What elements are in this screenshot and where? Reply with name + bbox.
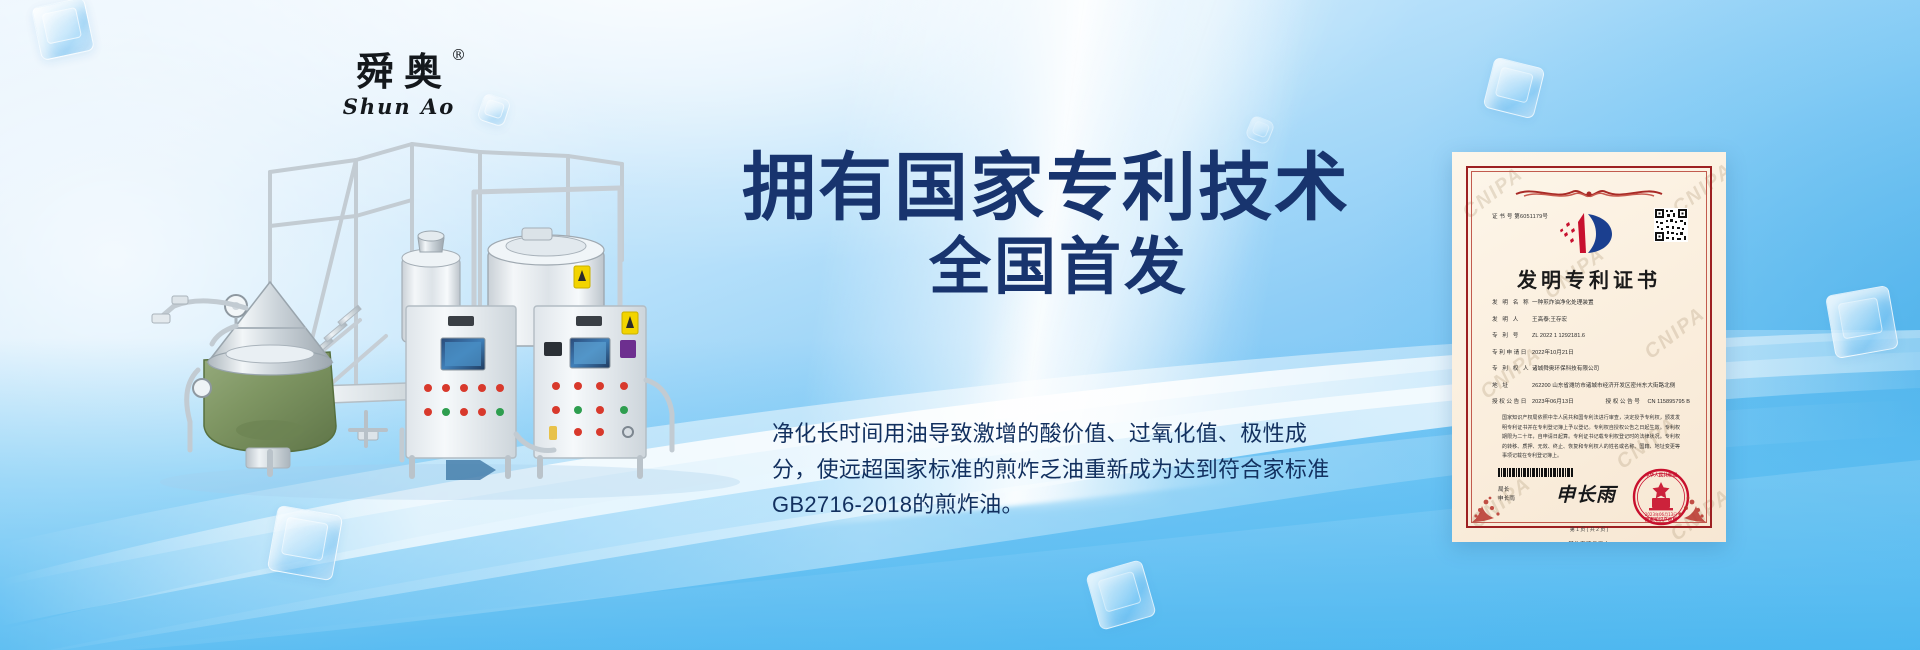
field-value: 2022年10月21日	[1532, 350, 1690, 358]
certificate-barcode	[1498, 468, 1573, 477]
certificate-number-value: 第6051179号	[1514, 214, 1548, 220]
cnipa-logo-icon	[1558, 210, 1620, 256]
ice-cube-decoration	[1825, 285, 1899, 359]
brand-logo-chinese: 舜奥 ®	[346, 52, 452, 92]
certificate-field-row: 专利申请日 2022年10月21日	[1492, 350, 1690, 358]
certificate-field-row: 发 明 人 王高泰;王存宏	[1492, 317, 1690, 325]
headline-block: 拥有国家专利技术 全国首发	[742, 150, 1402, 302]
certificate-fields: 发 明 名 称 一种煎炸油净化处理装置 发 明 人 王高泰;王存宏 专 利 号 …	[1492, 300, 1690, 416]
promo-banner: 舜奥 ® Shun Ao	[0, 0, 1920, 650]
field-label: 授权公告日	[1492, 399, 1532, 407]
field-value: 2023年06月13日	[1532, 399, 1592, 407]
field-value: 诸城舜奥环保科技有限公司	[1532, 366, 1690, 374]
field-value: CN 115895795 B	[1647, 399, 1690, 407]
certificate-signature: 申长雨	[1556, 480, 1616, 507]
field-label: 授权公告号	[1606, 399, 1642, 407]
certificate-field-row: 专 利 号 ZL 2022 1 1292181.6	[1492, 333, 1690, 341]
field-label: 地 址	[1492, 383, 1532, 391]
description-paragraph: 净化长时间用油导致激增的酸价值、过氧化值、极性成分，使远超国家标准的煎炸乏油重新…	[772, 416, 1332, 523]
brand-logo-pinyin: Shun Ao	[334, 94, 464, 119]
certificate-field-row: 授权公告日 2023年06月13日 授权公告号 CN 115895795 B	[1492, 399, 1690, 407]
field-label: 专利申请日	[1492, 350, 1532, 358]
brand-logo: 舜奥 ® Shun Ao	[334, 52, 464, 119]
certificate-qr-code	[1654, 208, 1688, 242]
registered-trademark-icon: ®	[441, 48, 466, 64]
certificate-footer-note: 其他事项见正文	[1468, 540, 1710, 542]
certificate-border: 证 书 号 第6051179号	[1466, 166, 1712, 528]
ice-cube-decoration	[31, 0, 95, 61]
certificate-corner-ornament-icon	[1470, 484, 1514, 524]
certificate-corner-ornament-icon	[1664, 484, 1708, 524]
certificate-number-label: 证 书 号	[1492, 214, 1513, 220]
field-value: 262200 山东省潍坊市诸城市经济开发区密州东大街路北侧	[1532, 383, 1690, 391]
field-label: 专 利 权 人	[1492, 366, 1532, 374]
certificate-number: 证 书 号 第6051179号	[1492, 212, 1548, 220]
certificate-page-number: 第 1 页 ( 共 2 页 )	[1468, 526, 1710, 533]
field-label: 发 明 名 称	[1492, 300, 1532, 308]
svg-text:中华人民共和国: 中华人民共和国	[1645, 472, 1678, 479]
certificate-legal-text: 国家知识产权局依照中华人民共和国专利法进行审查，决定授予专利权，颁发发明专利证书…	[1502, 414, 1680, 462]
patent-certificate: CNIPA CNIPA CNIPA CNIPA CNIPA CNIPA CNIP…	[1452, 152, 1726, 542]
certificate-field-row: 专 利 权 人 诸城舜奥环保科技有限公司	[1492, 366, 1690, 374]
certificate-field-row: 地 址 262200 山东省潍坊市诸城市经济开发区密州东大街路北侧	[1492, 383, 1690, 391]
certificate-field-row: 发 明 名 称 一种煎炸油净化处理装置	[1492, 300, 1690, 308]
certificate-title: 发明专利证书	[1468, 264, 1710, 293]
field-value: 王高泰;王存宏	[1532, 317, 1690, 325]
field-value: ZL 2022 1 1292181.6	[1532, 333, 1690, 341]
oil-purification-machine	[150, 130, 770, 510]
field-label: 专 利 号	[1492, 333, 1532, 341]
brand-logo-chinese-text: 舜奥	[356, 49, 452, 94]
ice-cube-decoration	[267, 505, 343, 581]
field-value: 一种煎炸油净化处理装置	[1532, 300, 1690, 308]
field-label: 发 明 人	[1492, 317, 1532, 325]
certificate-ornament-icon	[1514, 184, 1664, 204]
headline-line-1: 拥有国家专利技术	[742, 150, 1402, 227]
headline-line-2: 全国首发	[742, 233, 1402, 302]
